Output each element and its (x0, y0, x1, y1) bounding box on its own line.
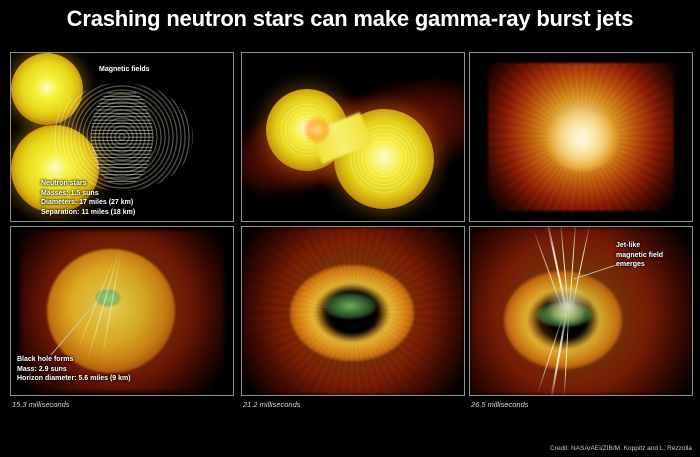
panel-6-render: Jet-like magnetic field emerges (470, 227, 692, 395)
panel-4[interactable]: Black hole forms Mass: 2.9 suns Horizon … (10, 226, 234, 422)
panel-row-bottom: Black hole forms Mass: 2.9 suns Horizon … (10, 226, 694, 422)
infographic-root: { "title": "Crashing neutron stars can m… (0, 0, 700, 457)
black-hole-title: Black hole forms (17, 355, 131, 365)
panel-6-caption: 26.5 milliseconds (471, 400, 529, 409)
magnetic-fields-label: Magnetic fields (99, 65, 150, 75)
panel-3[interactable]: 13.8 milliseconds (469, 52, 693, 248)
jet-label-line-3: emerges (616, 260, 663, 270)
panel-5-frame (241, 226, 465, 396)
panel-5-caption: 21.2 milliseconds (243, 400, 301, 409)
panel-6[interactable]: Jet-like magnetic field emerges 26.5 mil… (469, 226, 693, 422)
panel-1-render: Magnetic fields Neutron stars Masses: 1.… (11, 53, 233, 221)
panel-2[interactable]: 7.4 milliseconds (241, 52, 465, 248)
panel-grid: Magnetic fields Neutron stars Masses: 1.… (10, 52, 694, 422)
panel-1-frame: Magnetic fields Neutron stars Masses: 1.… (10, 52, 234, 222)
panel-3-render (470, 53, 692, 221)
turbulence-overlay-5 (242, 227, 464, 395)
neutron-stars-mass: Masses: 1.5 suns (41, 189, 135, 199)
panel-1[interactable]: Magnetic fields Neutron stars Masses: 1.… (10, 52, 234, 248)
field-core-right (91, 90, 153, 184)
turbulence-overlay (470, 53, 692, 221)
credit-line: Credit: NASA/AEI/ZIB/M. Koppitz and L. R… (550, 445, 692, 452)
page-title: Crashing neutron stars can make gamma-ra… (0, 6, 700, 32)
black-hole-label: Black hole forms Mass: 2.9 suns Horizon … (17, 355, 131, 384)
jet-label-line-2: magnetic field (616, 251, 663, 261)
panel-2-render (242, 53, 464, 221)
panel-2-frame (241, 52, 465, 222)
neutron-stars-separation: Separation: 11 miles (18 km) (41, 208, 135, 218)
neutron-stars-title: Neutron stars (41, 179, 135, 189)
panel-row-top: Magnetic fields Neutron stars Masses: 1.… (10, 52, 694, 248)
panel-4-caption: 15.3 milliseconds (12, 400, 70, 409)
panel-5[interactable]: 21.2 milliseconds (241, 226, 465, 422)
neutron-stars-label: Neutron stars Masses: 1.5 suns Diameters… (41, 179, 135, 217)
panel-3-frame (469, 52, 693, 222)
neutron-stars-diameter: Diameters: 17 miles (27 km) (41, 198, 135, 208)
magnetic-fields-text: Magnetic fields (99, 66, 150, 73)
panel-6-frame: Jet-like magnetic field emerges (469, 226, 693, 396)
panel-4-render: Black hole forms Mass: 2.9 suns Horizon … (11, 227, 233, 395)
jet-label: Jet-like magnetic field emerges (616, 241, 663, 270)
panel-5-render (242, 227, 464, 395)
black-hole-mass: Mass: 2.9 suns (17, 365, 131, 375)
black-hole-horizon: Horizon diameter: 5.6 miles (9 km) (17, 374, 131, 384)
jet-label-line-1: Jet-like (616, 241, 663, 251)
panel-4-frame: Black hole forms Mass: 2.9 suns Horizon … (10, 226, 234, 396)
